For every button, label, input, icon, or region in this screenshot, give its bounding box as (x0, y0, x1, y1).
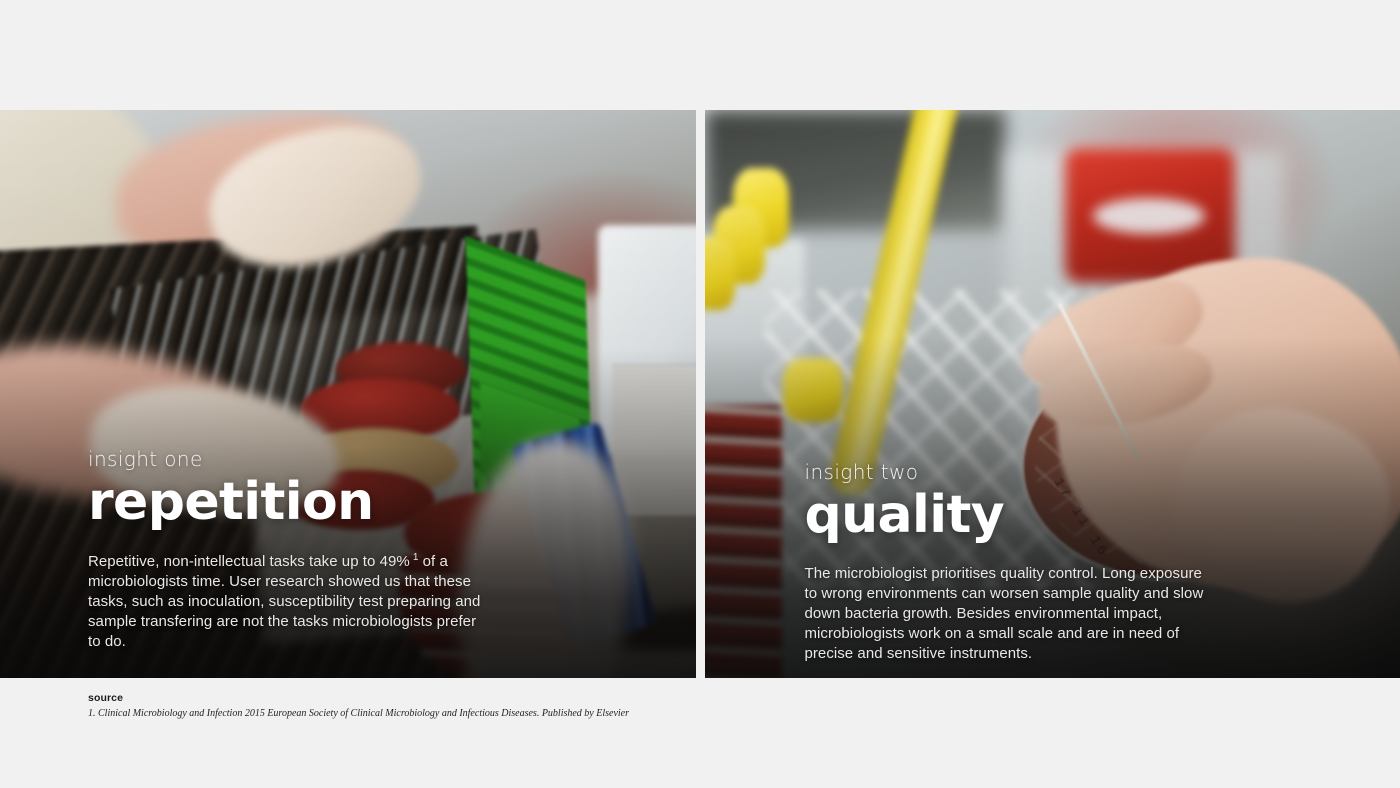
insight-one-eyebrow: insight one (88, 448, 508, 470)
source-block: source 1. Clinical Microbiology and Infe… (88, 692, 888, 721)
insight-two-eyebrow: insight two (805, 461, 1225, 483)
insight-two-copy: insight two quality The microbiologist p… (805, 461, 1225, 664)
slide-canvas: insight one repetition Repetitive, non-i… (0, 0, 1400, 788)
insight-two-body: The microbiologist prioritises quality c… (805, 564, 1205, 664)
tray-shape (470, 650, 696, 678)
red-container-label-shape (1093, 198, 1205, 234)
yellow-cap-shape (705, 238, 735, 310)
insight-panel-row: insight one repetition Repetitive, non-i… (0, 110, 1400, 678)
insight-one-copy: insight one repetition Repetitive, non-i… (88, 448, 508, 652)
insight-one-headline: repetition (88, 476, 508, 529)
yellow-cap-shape (783, 358, 843, 422)
bottle-label-shape (612, 365, 696, 515)
insight-panel-one[interactable]: insight one repetition Repetitive, non-i… (0, 110, 696, 678)
insight-one-body: Repetitive, non-intellectual tasks take … (88, 551, 488, 652)
insight-two-headline: quality (805, 489, 1225, 542)
insight-one-body-lead: Repetitive, non-intellectual tasks take … (88, 553, 410, 570)
source-label: source (88, 692, 888, 705)
source-citation: 1. Clinical Microbiology and Infection 2… (88, 707, 888, 721)
insight-panel-two[interactable]: 17 11 16 insight two quality The microbi… (705, 110, 1400, 678)
petri-dish-stack-shape (705, 405, 782, 678)
